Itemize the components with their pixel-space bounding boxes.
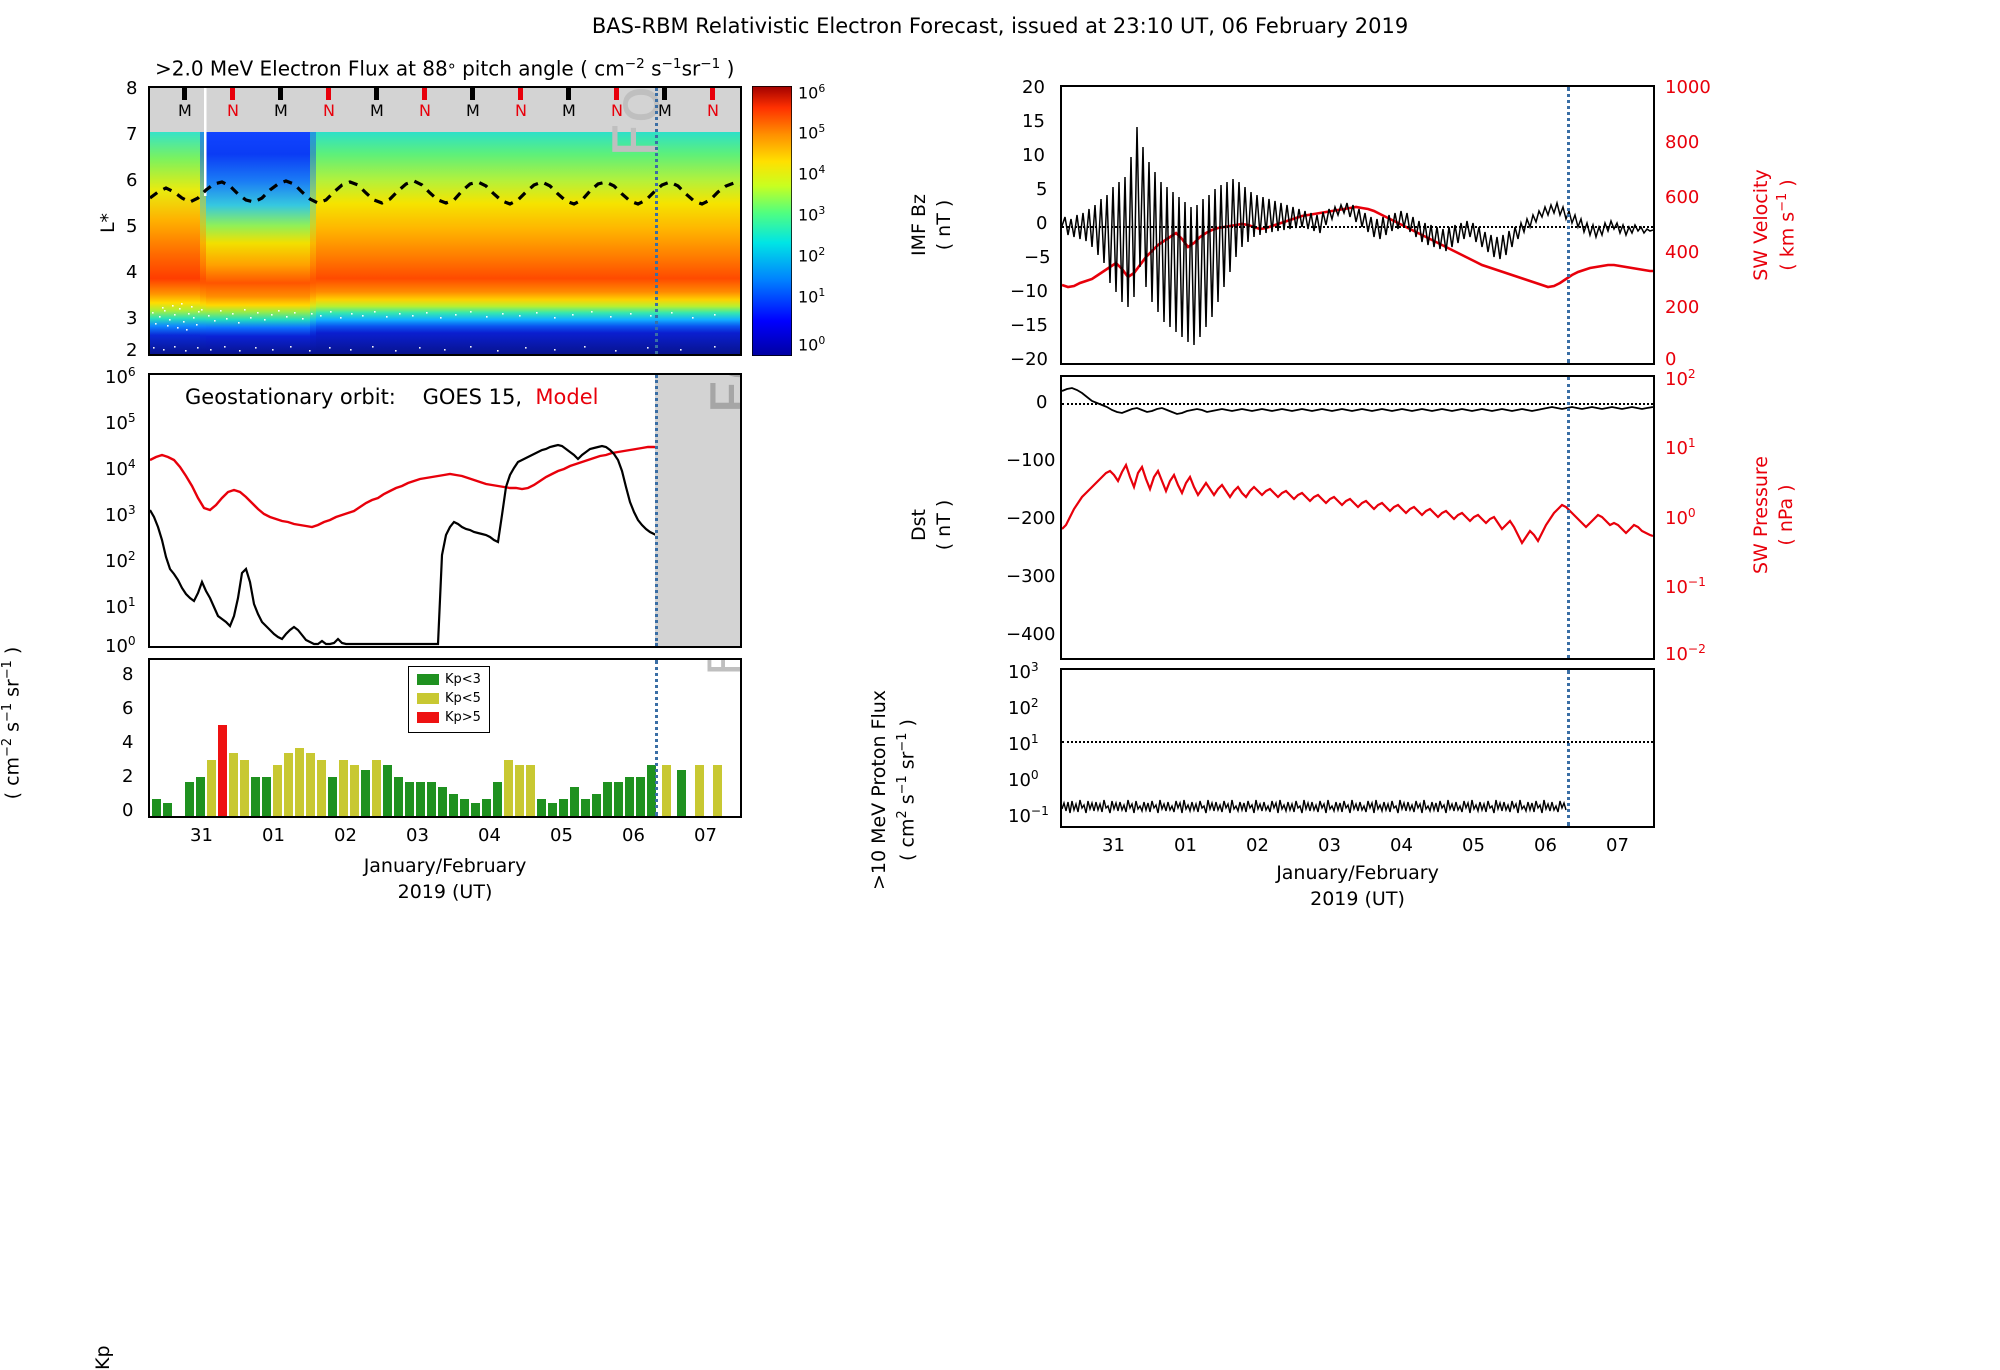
lt-tick-M: [182, 88, 187, 100]
dst-lines: [1062, 377, 1653, 658]
lt-label-M: M: [562, 101, 576, 120]
spectrogram-plot-area: Forecast M N M N M N M N M N M: [148, 86, 742, 356]
colorbar-tick-1e1: 101: [798, 286, 825, 306]
kp-xtick-02: 02: [334, 825, 357, 846]
right-xaxis-label-line1: January/February: [1060, 862, 1655, 884]
forecast-divider-dst: [1567, 377, 1570, 658]
lt-tick-M: [566, 88, 571, 100]
left-xaxis-label-line1: January/February: [148, 855, 742, 877]
geo-flux-lines: [150, 375, 740, 646]
kp-ytick-2: 2: [122, 766, 133, 787]
kp-bar-group: [152, 725, 722, 816]
proton-xtick-02: 02: [1246, 835, 1269, 856]
swv-ytick-600: 600: [1665, 187, 1699, 208]
spectrogram-ytick-8: 8: [126, 78, 137, 99]
geo-legend-goes: GOES 15,: [423, 385, 522, 409]
kp-ytick-0: 0: [122, 800, 133, 821]
imf-bz-ylabel-line1: IMF Bz: [908, 80, 930, 370]
proton-xtick-31: 31: [1102, 835, 1125, 856]
proton-threshold-line: [1062, 741, 1653, 743]
kp-xtick-31: 31: [190, 825, 213, 846]
sw-velocity-ylabel-line1: SW Velocity: [1750, 80, 1772, 370]
proton-xtick-03: 03: [1318, 835, 1341, 856]
colorbar-tick-1e3: 103: [798, 204, 825, 224]
geo-ytick-1e5: 105: [105, 411, 136, 434]
colorbar-tick-1e2: 102: [798, 245, 825, 265]
kp-legend-swatch-high: [417, 712, 439, 723]
kp-ylabel: Kp: [92, 1345, 114, 1370]
geo-ytick-1e6: 106: [105, 365, 136, 388]
forecast-divider-kp: [655, 660, 658, 816]
right-xaxis-label-line2: 2019 (UT): [1060, 888, 1655, 910]
proton-xtick-01: 01: [1174, 835, 1197, 856]
dst-ylabel-line1: Dst: [908, 380, 930, 670]
sw-pressure-ylabel-line1: SW Pressure: [1750, 370, 1772, 660]
lt-tick-N: [614, 88, 619, 100]
panel-kp: Kp 8 6 4 2 0 Forecast: [0, 650, 900, 890]
bz-ytick-5: 5: [1036, 179, 1047, 200]
kp-legend-swatch-mid: [417, 693, 439, 704]
swv-ytick-1000: 1000: [1665, 77, 1711, 98]
swv-ytick-200: 200: [1665, 297, 1699, 318]
spectrogram-ytick-3: 3: [126, 308, 137, 329]
proton-xtick-04: 04: [1390, 835, 1413, 856]
model-flux-line: [150, 447, 740, 527]
imf-bz-lines: [1062, 87, 1653, 363]
swp-ytick-1em1: 10−1: [1665, 575, 1706, 598]
panel-geostationary-flux: >2.0 MeV Electron Flux ( cm−2 s−1 sr−1 )…: [0, 368, 900, 648]
kp-ytick-4: 4: [122, 732, 133, 753]
kp-xtick-05: 05: [550, 825, 573, 846]
geo-flux-plot-area: Forecast Geostationary orbit: GOES 15, M…: [148, 373, 742, 648]
geo-ytick-1e1: 101: [105, 595, 136, 618]
bz-zero-line: [1062, 226, 1653, 228]
lt-label-M: M: [274, 101, 288, 120]
swv-ytick-800: 800: [1665, 132, 1699, 153]
lt-label-M: M: [178, 101, 192, 120]
geo-ytick-1e4: 104: [105, 457, 136, 480]
lt-tick-M: [278, 88, 283, 100]
kp-xtick-01: 01: [262, 825, 285, 846]
kp-xtick-06: 06: [622, 825, 645, 846]
kp-legend-label-low: Kp<3: [445, 672, 481, 687]
forecast-divider-proton: [1567, 670, 1570, 826]
lt-label-N: N: [707, 101, 719, 120]
local-time-markers: M N M N M N M N M N M N: [150, 88, 740, 132]
geo-legend-prefix: Geostationary orbit:: [185, 385, 396, 409]
spectrogram-ytick-6: 6: [126, 170, 137, 191]
kp-xtick-04: 04: [478, 825, 501, 846]
sw-pressure-line: [1062, 465, 1653, 543]
lt-label-M: M: [370, 101, 384, 120]
bz-ytick-10: 10: [1022, 145, 1045, 166]
forecast-divider-bz: [1567, 87, 1570, 363]
proton-xtick-07: 07: [1606, 835, 1629, 856]
bz-ytick-m20: −20: [1010, 349, 1048, 370]
kp-xtick-07: 07: [694, 825, 717, 846]
lt-tick-N: [518, 88, 523, 100]
proton-ylabel-line2: ( cm2 s−1 sr−1 ): [895, 630, 918, 950]
dst-ytick-0: 0: [1036, 392, 1047, 413]
swp-ytick-1e2: 102: [1665, 367, 1696, 390]
lt-label-M: M: [466, 101, 480, 120]
colorbar-tick-1e5: 105: [798, 122, 825, 142]
colorbar-gradient: [752, 86, 792, 356]
lt-label-M: M: [658, 101, 672, 120]
spectrogram-ytick-5: 5: [126, 216, 137, 237]
kp-legend-label-high: Kp>5: [445, 710, 481, 725]
dst-ytick-m300: −300: [1006, 566, 1055, 587]
spectrogram-ylabel: L*: [97, 213, 119, 233]
kp-xtick-03: 03: [406, 825, 429, 846]
bz-ytick-m15: −15: [1010, 315, 1048, 336]
kp-plot-area: Forecast: [148, 658, 742, 818]
kp-legend: Kp<3 Kp<5 Kp>5: [408, 666, 490, 733]
panel-imf-bz: IMF Bz ( nT ) 20 15 10 5 0 −5 −10 −15 −2…: [1050, 60, 2000, 380]
spectrogram-title: >2.0 MeV Electron Flux at 88° pitch angl…: [155, 56, 734, 81]
forecast-watermark-geo: Forecast: [698, 373, 742, 415]
forecast-shading: [655, 375, 740, 646]
lt-tick-M: [470, 88, 475, 100]
swv-ytick-400: 400: [1665, 242, 1699, 263]
panel-proton-flux: >10 MeV Proton Flux ( cm2 s−1 sr−1 ) 103…: [1050, 650, 2000, 890]
lt-label-N: N: [419, 101, 431, 120]
proton-ytick-1e2: 102: [1008, 696, 1039, 719]
panel-flux-spectrogram: >2.0 MeV Electron Flux at 88° pitch angl…: [0, 0, 900, 380]
sw-pressure-ylabel-line2: ( nPa ): [1775, 370, 1797, 660]
bz-ytick-0: 0: [1036, 213, 1047, 234]
lt-label-N: N: [611, 101, 623, 120]
proton-ytick-1em1: 10−1: [1008, 804, 1049, 827]
kp-legend-item: Kp<5: [417, 690, 481, 709]
lt-tick-N: [710, 88, 715, 100]
geo-legend-text: Geostationary orbit: GOES 15, Model: [185, 385, 598, 409]
geo-legend-model: Model: [535, 385, 598, 409]
proton-xtick-06: 06: [1534, 835, 1557, 856]
kp-legend-item: Kp>5: [417, 709, 481, 728]
swp-ytick-1e1: 101: [1665, 436, 1696, 459]
swp-ytick-1e0: 100: [1665, 506, 1696, 529]
spectrogram-ytick-2: 2: [126, 340, 137, 361]
proton-plot-area: [1060, 668, 1655, 828]
dst-zero-line: [1062, 403, 1653, 405]
lt-label-N: N: [323, 101, 335, 120]
spectrogram-ytick-7: 7: [126, 124, 137, 145]
dst-ytick-m400: −400: [1006, 624, 1055, 645]
dst-ytick-m200: −200: [1006, 508, 1055, 529]
forecast-divider-geo: [655, 375, 658, 646]
geo-ytick-1e3: 103: [105, 503, 136, 526]
imf-bz-ylabel-line2: ( nT ): [933, 80, 955, 370]
colorbar-tick-1e4: 104: [798, 163, 825, 183]
forecast-watermark-kp: Forecast: [698, 658, 742, 676]
proton-ylabel-line1: >10 MeV Proton Flux: [868, 630, 890, 950]
spectrogram-ytick-4: 4: [126, 262, 137, 283]
lt-tick-M: [374, 88, 379, 100]
bz-ytick-15: 15: [1022, 111, 1045, 132]
lt-tick-N: [326, 88, 331, 100]
geo-ytick-1e2: 102: [105, 549, 136, 572]
kp-legend-item: Kp<3: [417, 671, 481, 690]
proton-ytick-1e1: 101: [1008, 732, 1039, 755]
panel-dst: Dst ( nT ) 0 −100 −200 −300 −400 102 101…: [1050, 370, 2000, 660]
sw-velocity-ylabel-line2: ( km s−1 ): [1775, 80, 1798, 370]
proton-ytick-1e3: 103: [1008, 660, 1039, 683]
kp-legend-label-mid: Kp<5: [445, 691, 481, 706]
lt-tick-N: [422, 88, 427, 100]
bz-ytick-20: 20: [1022, 77, 1045, 98]
proton-ytick-1e0: 100: [1008, 768, 1039, 791]
colorbar-tick-1e6: 106: [798, 82, 825, 102]
colorbar-tick-1e0: 100: [798, 334, 825, 354]
bz-ytick-m10: −10: [1010, 281, 1048, 302]
lt-label-N: N: [227, 101, 239, 120]
dst-ytick-m100: −100: [1006, 450, 1055, 471]
proton-xtick-05: 05: [1462, 835, 1485, 856]
dst-plot-area: [1060, 375, 1655, 660]
left-xaxis-label-line2: 2019 (UT): [148, 881, 742, 903]
dst-line: [1062, 388, 1653, 414]
flux-colorbar: [752, 86, 792, 356]
lt-label-N: N: [515, 101, 527, 120]
kp-ytick-6: 6: [122, 698, 133, 719]
proton-series: [1062, 800, 1566, 813]
imf-bz-line: [1062, 127, 1653, 345]
kp-ytick-8: 8: [122, 664, 133, 685]
dst-ylabel-line2: ( nT ): [933, 380, 955, 670]
kp-legend-swatch-low: [417, 674, 439, 685]
lt-tick-N: [230, 88, 235, 100]
imf-bz-plot-area: [1060, 85, 1655, 365]
proton-flux-line: [1062, 670, 1653, 826]
lt-tick-M: [662, 88, 667, 100]
bz-ytick-m5: −5: [1024, 247, 1051, 268]
